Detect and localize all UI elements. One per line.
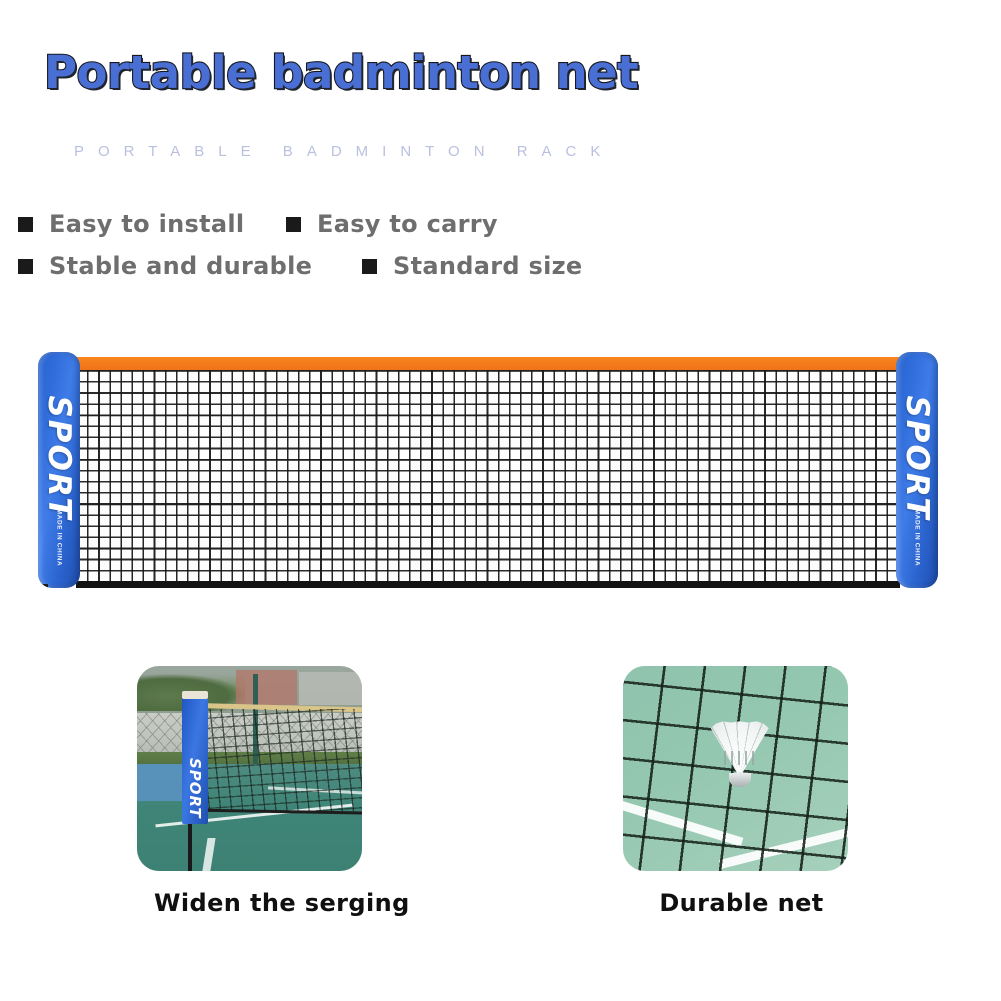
feature-item-standard-size: Standard size (362, 252, 582, 280)
photo-caption: Durable net (629, 889, 854, 917)
photo-shuttlecock-in-net (623, 666, 848, 871)
building-brick (236, 670, 297, 705)
feature-label: Standard size (393, 252, 582, 280)
product-detail-page: Portable badminton net PORTABLE BADMINTO… (0, 0, 1001, 1001)
net-bottom-band (76, 581, 900, 588)
court-net-mesh (187, 709, 363, 812)
building-concrete (299, 672, 362, 705)
photo-card-widen-the-serging: SPORT Widen the serging (137, 666, 362, 917)
feature-list: Easy to install Easy to carry Stable and… (0, 208, 1001, 304)
square-bullet-icon (18, 217, 33, 232)
net-post-left: SPORT MADE IN CHINA (38, 352, 80, 588)
post-made-in-label: MADE IN CHINA (914, 509, 921, 567)
net-mesh (76, 370, 900, 581)
net-post-right: SPORT MADE IN CHINA (896, 352, 938, 588)
net-body (76, 357, 900, 588)
page-subtitle: PORTABLE BADMINTON RACK (74, 143, 614, 160)
shuttlecock-feather-ribs (711, 721, 769, 777)
feature-item-stable-and-durable: Stable and durable (18, 252, 312, 280)
post-made-in-label: MADE IN CHINA (56, 509, 63, 567)
shuttlecock-icon (711, 721, 769, 787)
feature-photo-cards: SPORT Widen the serging Durable net (0, 666, 1001, 946)
feature-label: Easy to install (49, 210, 244, 238)
photo-caption: Widen the serging (154, 889, 379, 917)
page-title: Portable badminton net (44, 50, 638, 95)
post-brand-label: SPORT (186, 758, 204, 784)
square-bullet-icon (18, 259, 33, 274)
net-post-cap (182, 691, 208, 699)
photo-outdoor-court: SPORT (137, 666, 362, 871)
feature-item-easy-to-install: Easy to install (18, 210, 244, 238)
net-post-stand (188, 824, 192, 871)
post-brand-label: SPORT (899, 395, 935, 520)
feature-label: Easy to carry (317, 210, 498, 238)
shuttlecock-cork-base (729, 773, 751, 787)
shuttlecock-vent-slots (724, 751, 756, 765)
post-foot-icon (40, 584, 48, 588)
square-bullet-icon (362, 259, 377, 274)
hero-net-image: SPORT MADE IN CHINA SPORT MADE IN CHINA (38, 352, 938, 594)
feature-label: Stable and durable (49, 252, 312, 280)
net-head-band (76, 357, 900, 370)
photo-card-durable-net: Durable net (623, 666, 848, 917)
feature-item-easy-to-carry: Easy to carry (286, 210, 498, 238)
post-brand-label: SPORT (41, 395, 77, 520)
square-bullet-icon (286, 217, 301, 232)
